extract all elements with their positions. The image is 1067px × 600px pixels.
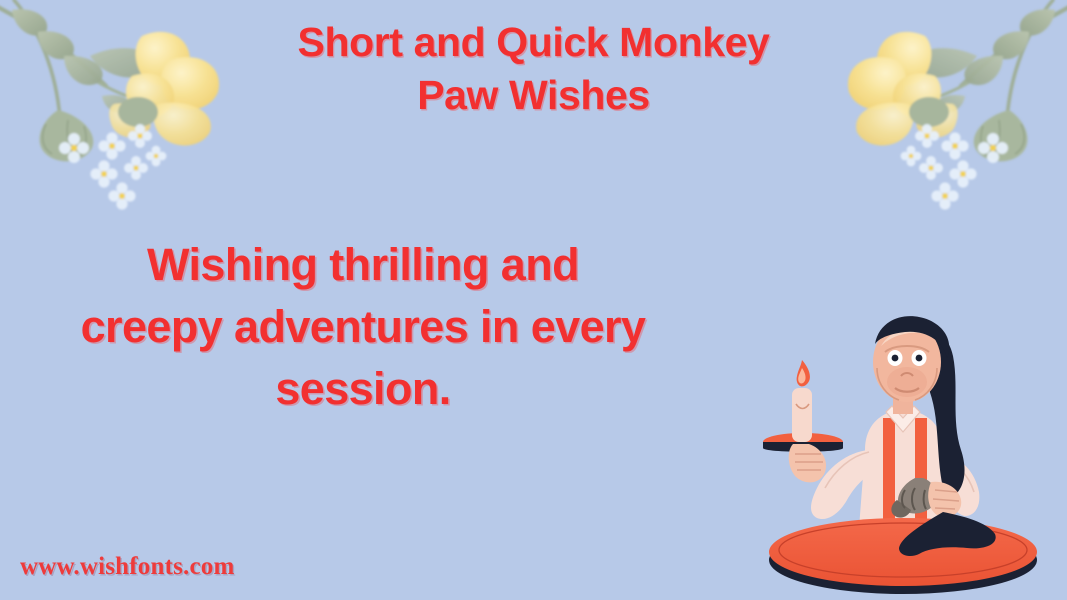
wish-message-line-3: session. [8, 358, 718, 420]
wish-message: Wishing thrilling and creepy adventures … [8, 234, 718, 420]
page-title-line-1: Short and Quick Monkey [298, 19, 770, 65]
monkey-paw-candle-icon [747, 300, 1057, 600]
wish-message-line-1: Wishing thrilling and [8, 234, 718, 296]
wish-message-line-2: creepy adventures in every [8, 296, 718, 358]
page-title: Short and Quick Monkey Paw Wishes [0, 16, 1067, 123]
greeting-card-canvas: Short and Quick Monkey Paw Wishes Wishin… [0, 0, 1067, 600]
page-title-line-2: Paw Wishes [0, 69, 1067, 122]
monkey-paw-illustration [747, 300, 1057, 600]
site-watermark: www.wishfonts.com [20, 553, 235, 581]
